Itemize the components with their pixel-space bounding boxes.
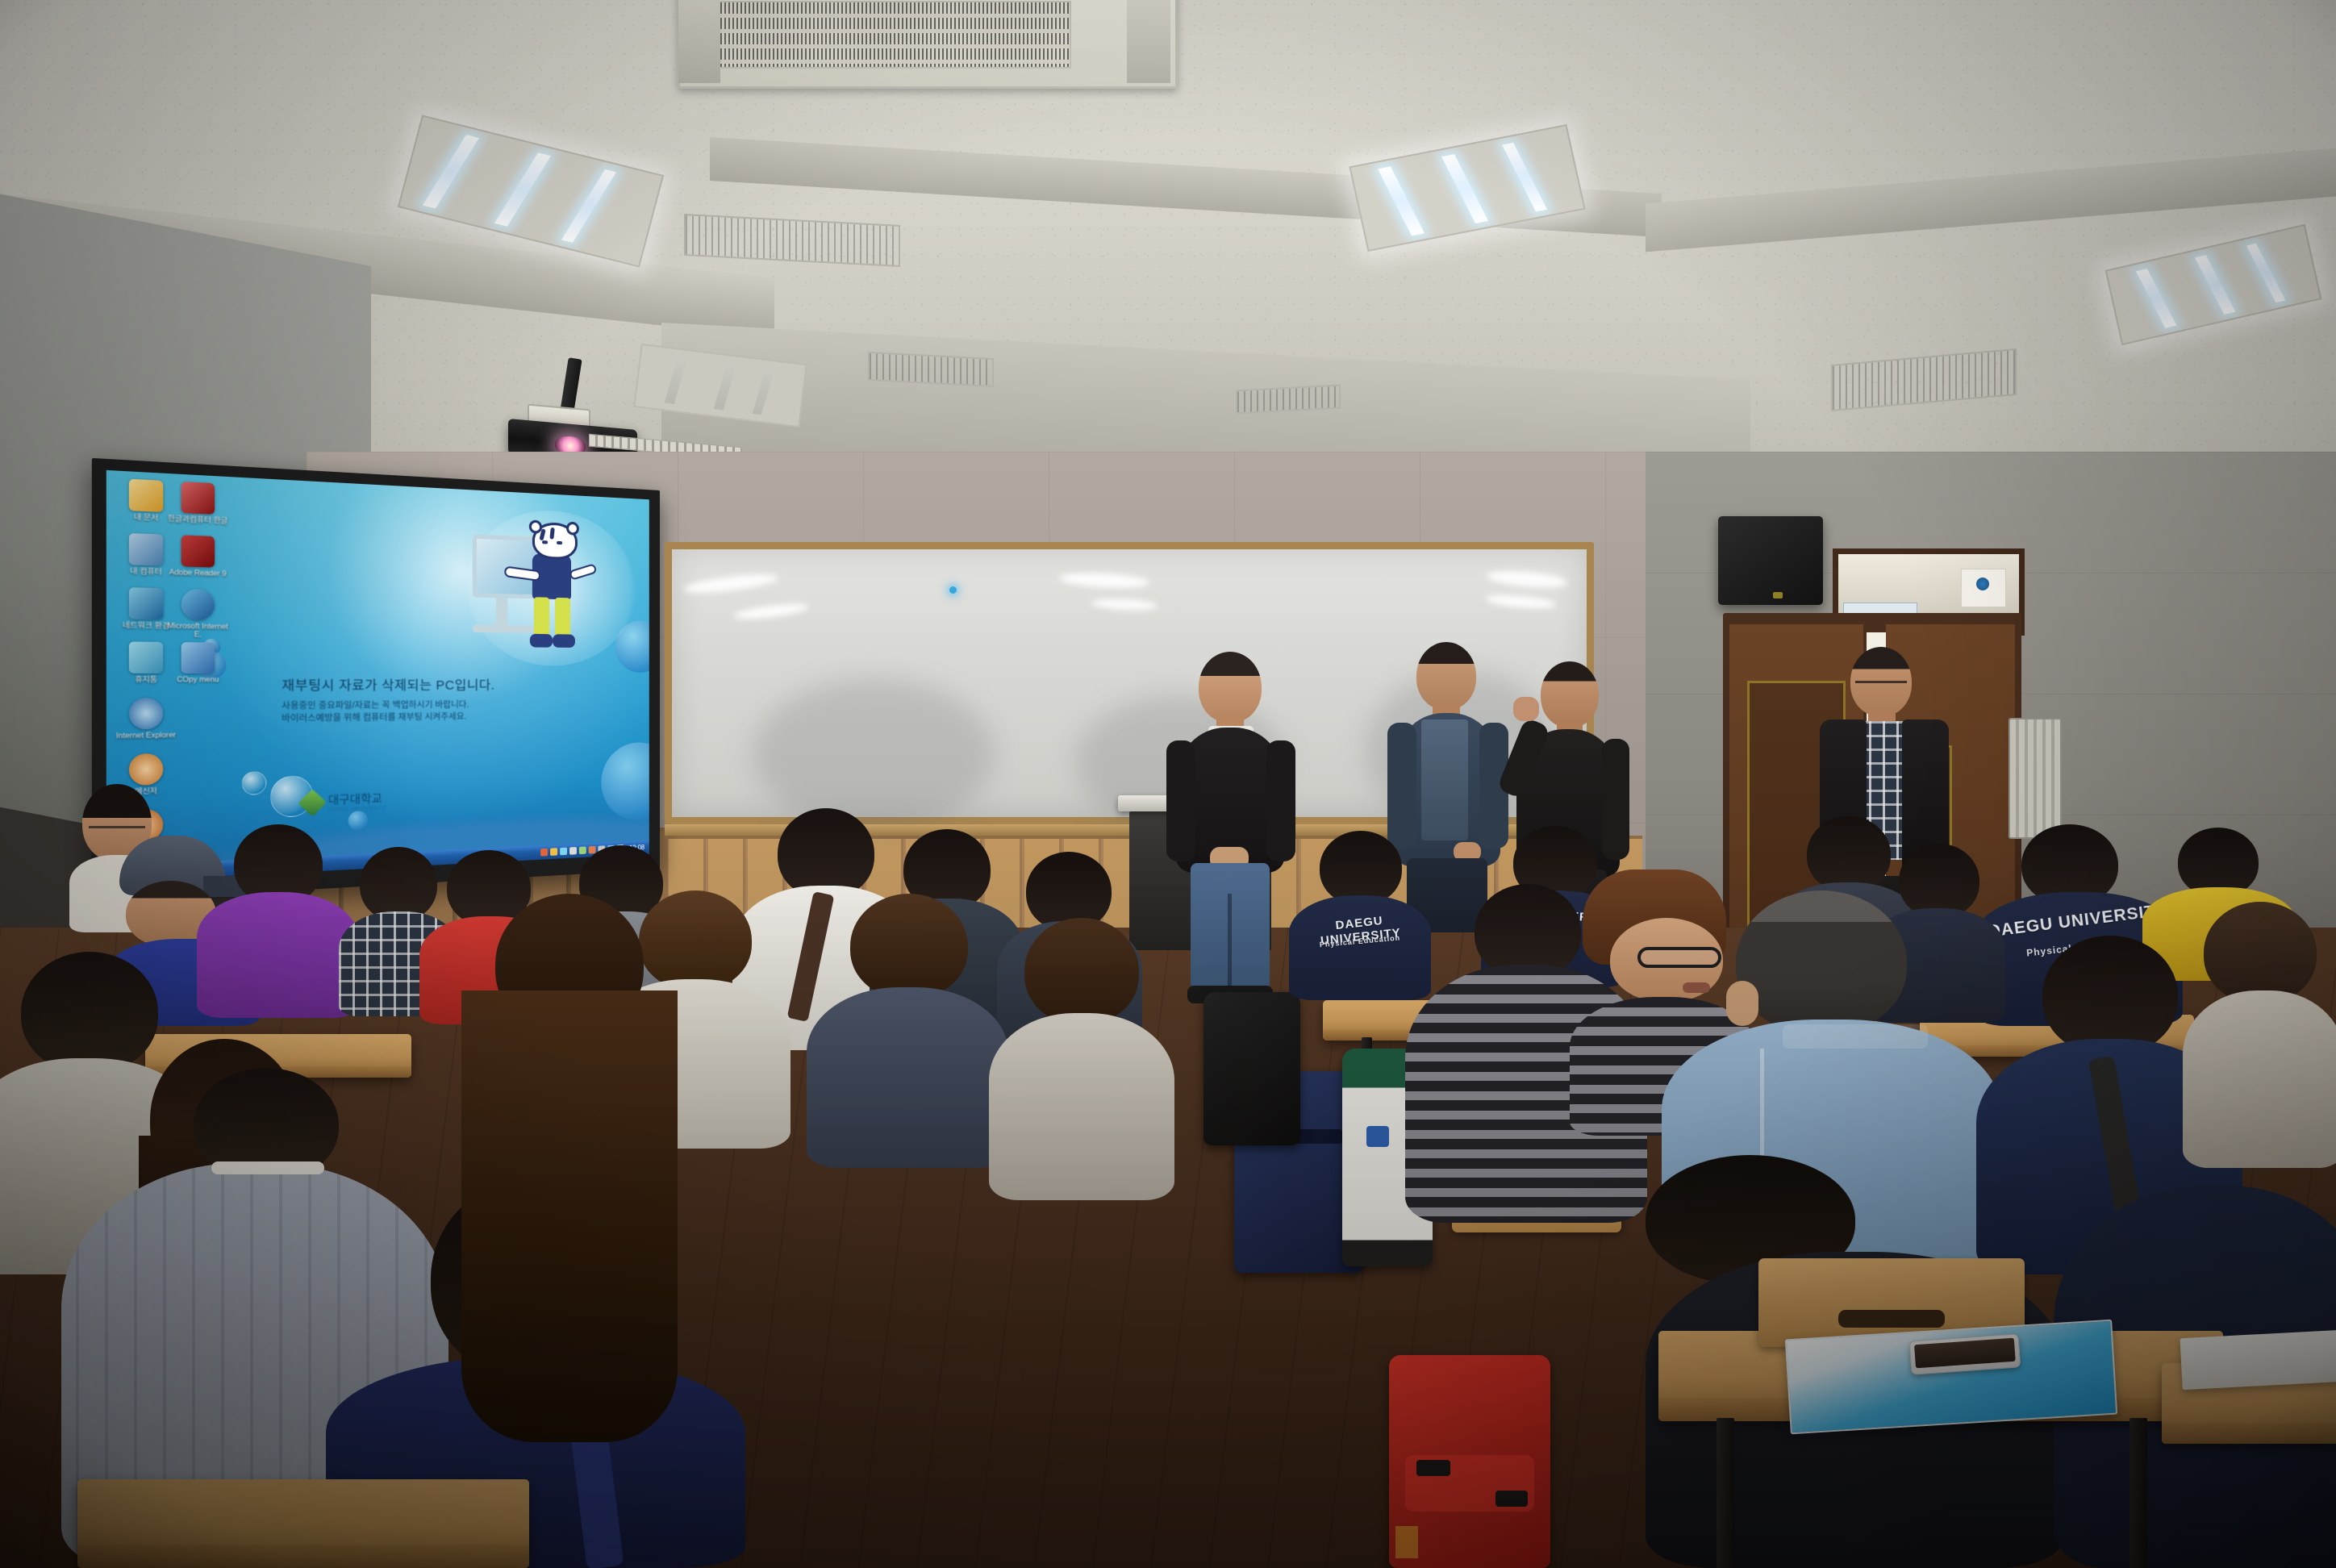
wallpaper-bubble-1 [242, 771, 267, 795]
mascot-eye-right [557, 541, 562, 544]
screen-university-logo: 대구대학교 DAEGU UNIVERSITY [302, 789, 387, 814]
presenter-2-jacket-panel [1421, 719, 1468, 840]
desk-front-left [77, 1479, 529, 1568]
desktop-icon-5-label: Microsoft Internet E. [167, 622, 228, 639]
presenter-3-hand-at-face [1513, 697, 1539, 721]
whiteboard-glare-1 [682, 571, 778, 596]
mascot-leg-right [555, 598, 570, 638]
red-backpack [1389, 1355, 1550, 1568]
desktop-icon-6-glyph [129, 641, 164, 673]
denim-collar [1783, 1024, 1928, 1049]
ac-grille [715, 1, 1071, 69]
screen-message-block: 재부팅시 자료가 삭제되는 PC입니다. 사용중인 중요파일/자료는 꼭 백업하… [282, 675, 568, 725]
varsity-jacket-badge [1366, 1126, 1389, 1147]
body [807, 987, 1008, 1168]
mascot-shoe-right [553, 634, 575, 648]
notice-seal-icon [1976, 578, 1989, 590]
head [1024, 918, 1139, 1024]
presenter-3-head [1541, 661, 1599, 728]
desktop-icon-8-glyph [129, 698, 164, 730]
body [2183, 990, 2336, 1168]
desktop-icon-1-label: 한글과컴퓨터 한글 [167, 514, 228, 524]
desktop-icon-7[interactable]: COpy menu [167, 642, 228, 684]
backpack-buckle-1 [1416, 1460, 1450, 1476]
desktop-icon-1-glyph [181, 482, 215, 515]
mascot-monitor-stand [496, 598, 507, 627]
backpack-buckle-2 [1495, 1491, 1528, 1507]
presenter-1-head [1199, 652, 1262, 723]
white-paper-far-right [2180, 1330, 2336, 1390]
presenter-1-arm-left [1166, 740, 1195, 861]
student-purple-hoodie [197, 824, 358, 1018]
university-diamond-icon [298, 789, 327, 816]
transom-notice-paper [1961, 569, 2006, 607]
desktop-icon-5[interactable]: Microsoft Internet E. [167, 588, 228, 639]
student-mid-left-2 [807, 894, 1008, 1168]
projection-screen-surface[interactable]: 내 문서 한글과컴퓨터 한글 내 컴퓨터 Adobe Reader 9 네트워크… [106, 470, 649, 882]
head [2042, 936, 2178, 1055]
desktop-icon-3-label: Adobe Reader 9 [167, 568, 228, 578]
desktop-icon-5-glyph [181, 589, 215, 621]
presenter-1 [1162, 652, 1299, 1007]
desktop-icon-7-glyph [181, 642, 215, 673]
mascot-ear-right [566, 522, 579, 536]
mascot-shoe-left [530, 634, 553, 648]
wall-radiator [2009, 718, 2062, 839]
shirt-collar [211, 1161, 324, 1174]
desktop-icon-8-label: Internet Explorer [115, 731, 177, 740]
backpack-tag [1395, 1526, 1418, 1558]
ceiling-ac-unit-main [678, 0, 1178, 89]
student-fg-long-hair [439, 894, 697, 1474]
desk-leg-fr2 [2130, 1418, 2147, 1568]
presenter-2-head [1416, 642, 1476, 710]
black-backpack-lectern [1203, 992, 1300, 1145]
student-mid-left-3 [989, 918, 1174, 1200]
presenter-1-jeans-split [1228, 894, 1232, 990]
desktop-icon-2-glyph [129, 533, 164, 566]
body [989, 1013, 1174, 1200]
mascot-leg-left [534, 597, 549, 637]
phone-screen [1914, 1338, 2016, 1369]
desktop-icon-1[interactable]: 한글과컴퓨터 한글 [167, 481, 228, 525]
head [2204, 902, 2317, 1003]
whiteboard-glare-4 [1091, 598, 1158, 611]
desktop-icon-8[interactable]: Internet Explorer [115, 698, 177, 740]
student-ponytail-right [2183, 902, 2336, 1168]
desktop-icon-0-glyph [129, 479, 164, 512]
whiteboard-glare-2 [732, 601, 809, 621]
hoodie [197, 892, 358, 1018]
whiteboard-glare-5 [1486, 569, 1567, 590]
ac-louver-left [678, 0, 720, 83]
ac-louver-right [1127, 0, 1170, 83]
desktop-icon-9-glyph [129, 753, 164, 786]
desk-edge [77, 1545, 529, 1568]
head [1736, 890, 1907, 1034]
glasses-icon [89, 826, 145, 834]
screen-line-3: 바이러스예방을 위해 컴퓨터를 재부팅 시켜주세요. [282, 711, 568, 726]
whiteboard-glare-3 [1059, 571, 1150, 590]
desktop-icon-3-glyph [181, 535, 215, 567]
mascot-monitor-base [473, 624, 534, 633]
lecture-hall-photo: 내 문서 한글과컴퓨터 한글 내 컴퓨터 Adobe Reader 9 네트워크… [0, 0, 2336, 1568]
mascot-eye-left [542, 540, 548, 544]
desktop-icon-7-label: COpy menu [167, 675, 228, 683]
presenter-4-glasses-icon [1855, 681, 1907, 689]
chair-handle-hole [1838, 1310, 1945, 1328]
desktop-icon-4-glyph [129, 587, 164, 619]
blue-binder [1785, 1320, 2117, 1435]
desktop-mascot-tiger [452, 511, 631, 683]
long-hair [461, 990, 678, 1442]
head [850, 894, 968, 999]
wall-speaker [1718, 516, 1823, 605]
university-logo-text: 대구대학교 [328, 789, 387, 807]
desk-leg-fr1 [1717, 1418, 1734, 1568]
head [1320, 831, 1402, 905]
desk-edge [2162, 1423, 2336, 1444]
whiteboard-glare-6 [1485, 593, 1557, 611]
desktop-icon-3[interactable]: Adobe Reader 9 [167, 535, 228, 578]
screen-headline: 재부팅시 자료가 삭제되는 PC입니다. [282, 675, 568, 694]
whiteboard-laser-dot [949, 586, 957, 594]
ear [1726, 981, 1758, 1026]
presenter-2-arm-left [1387, 723, 1416, 849]
